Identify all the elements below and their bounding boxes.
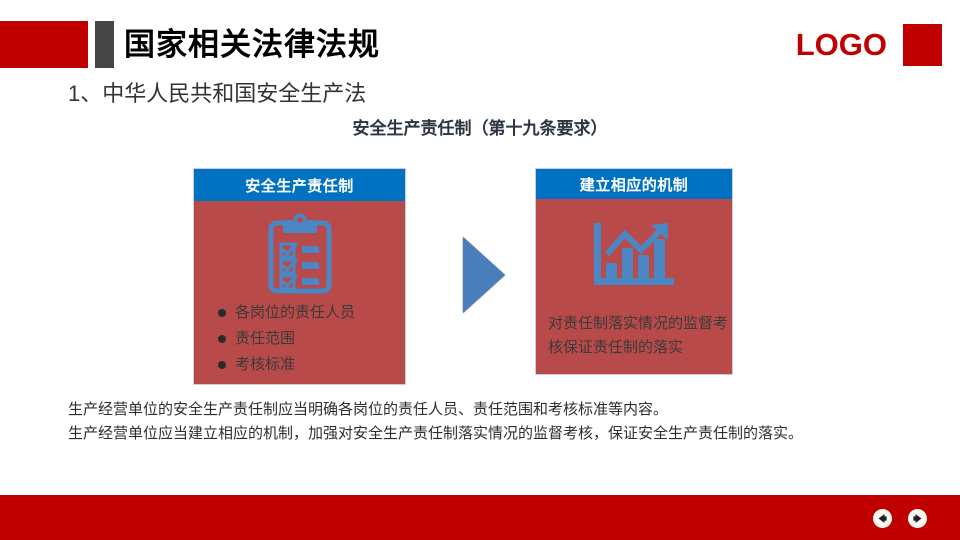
- section-heading: 1、中华人民共和国安全生产法: [68, 78, 366, 110]
- bullet-dot-icon: [218, 335, 226, 343]
- card-header-label: 建立相应的机制: [536, 169, 732, 199]
- card-body-text: 对责任制落实情况的监督考核保证责任制的落实: [548, 312, 730, 360]
- header-gray-accent-block: [95, 21, 114, 68]
- logo-red-block: [903, 24, 942, 66]
- page-title: 国家相关法律法规: [124, 22, 380, 68]
- body-paragraph-line: 生产经营单位应当建立相应的机制，加强对安全生产责任制落实情况的监督考核，保证安全…: [68, 422, 888, 446]
- card-responsibility-system: 安全生产责任制: [193, 168, 406, 385]
- clipboard-checklist-icon: [194, 213, 405, 297]
- list-item: 各岗位的责任人员: [218, 301, 398, 325]
- footer-band: [0, 495, 960, 540]
- slide-canvas: 国家相关法律法规 LOGO 1、中华人民共和国安全生产法 安全生产责任制（第十九…: [0, 0, 960, 540]
- bullet-dot-icon: [218, 361, 226, 369]
- bar-chart-growth-icon: [536, 221, 732, 295]
- header-red-accent-block: [0, 21, 88, 68]
- next-slide-button[interactable]: [908, 509, 927, 528]
- list-item: 责任范围: [218, 327, 398, 351]
- card-establish-mechanism: 建立相应的机制 对责任制落实情况的监督考核保证责任制的落实: [535, 168, 733, 375]
- prev-slide-button[interactable]: [873, 509, 892, 528]
- card-bullet-list: 各岗位的责任人员 责任范围 考核标准: [218, 301, 398, 379]
- list-item-label: 责任范围: [235, 327, 295, 351]
- list-item-label: 考核标准: [235, 353, 295, 377]
- list-item: 考核标准: [218, 353, 398, 377]
- flow-arrow-right-icon: [463, 237, 505, 313]
- bullet-dot-icon: [218, 309, 226, 317]
- card-header-label: 安全生产责任制: [194, 169, 405, 201]
- list-item-label: 各岗位的责任人员: [235, 301, 355, 325]
- body-paragraph: 生产经营单位的安全生产责任制应当明确各岗位的责任人员、责任范围和考核标准等内容。…: [68, 398, 888, 446]
- logo-text: LOGO: [796, 25, 887, 65]
- section-subtitle: 安全生产责任制（第十九条要求）: [0, 117, 960, 141]
- arrow-right-icon: [912, 513, 923, 524]
- body-paragraph-line: 生产经营单位的安全生产责任制应当明确各岗位的责任人员、责任范围和考核标准等内容。: [68, 398, 888, 422]
- arrow-left-icon: [877, 513, 888, 524]
